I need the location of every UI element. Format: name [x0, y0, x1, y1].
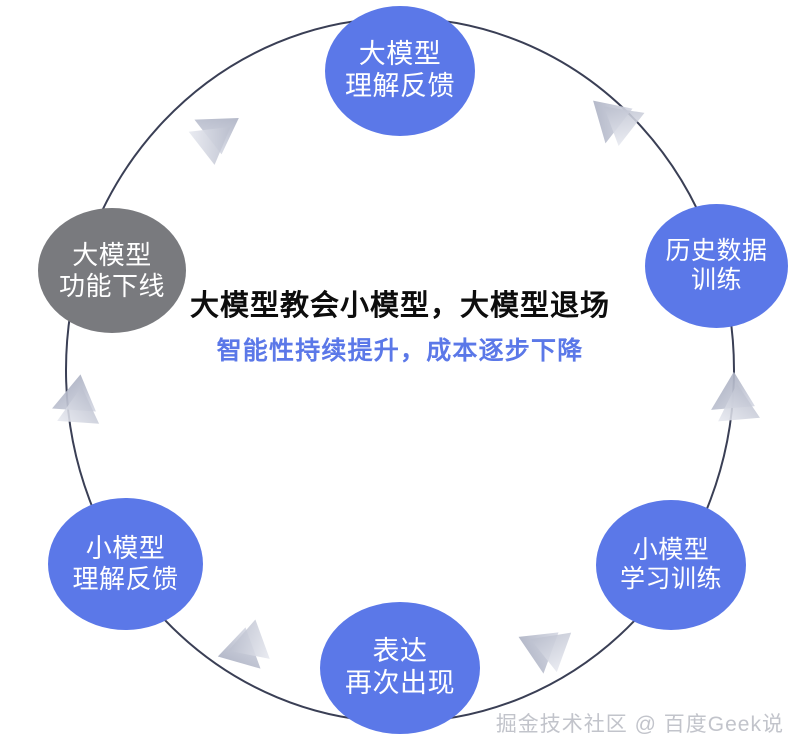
arrow-right: [708, 370, 760, 422]
node-label-line1: 表达: [373, 636, 428, 668]
diagram-canvas: 大模型 理解反馈 历史数据 训练 小模型 学习训练 表达 再次出现 小模型 理解…: [0, 0, 800, 748]
node-expression-reappears[interactable]: 表达 再次出现: [320, 602, 480, 734]
node-label-line1: 大模型: [359, 39, 442, 71]
arrow-upper-right: [577, 83, 644, 150]
arrow-left: [51, 373, 102, 424]
caption-main: 大模型教会小模型，大模型退场: [0, 288, 800, 324]
node-label-line1: 历史数据: [665, 237, 767, 267]
arrow-lower-right: [510, 616, 572, 678]
center-caption-block: 大模型教会小模型，大模型退场 智能性持续提升，成本逐步下降: [0, 288, 800, 368]
watermark: 掘金技术社区 @ 百度Geek说: [496, 708, 784, 738]
node-small-model-understand-feedback[interactable]: 小模型 理解反馈: [48, 498, 203, 630]
node-small-model-learning-training[interactable]: 小模型 学习训练: [596, 500, 746, 630]
node-label-line2: 再次出现: [345, 668, 455, 700]
node-label-line1: 小模型: [633, 536, 710, 566]
node-label-line1: 小模型: [86, 533, 166, 564]
node-label-line2: 学习训练: [620, 565, 722, 595]
node-label-line2: 理解反馈: [72, 564, 178, 595]
node-label-line1: 大模型: [72, 240, 152, 271]
arrow-upper-left: [185, 97, 252, 164]
node-label-line2: 理解反馈: [345, 71, 455, 103]
node-big-model-understand-feedback[interactable]: 大模型 理解反馈: [325, 6, 475, 136]
arrow-lower-left: [210, 619, 272, 681]
caption-sub: 智能性持续提升，成本逐步下降: [0, 336, 800, 367]
